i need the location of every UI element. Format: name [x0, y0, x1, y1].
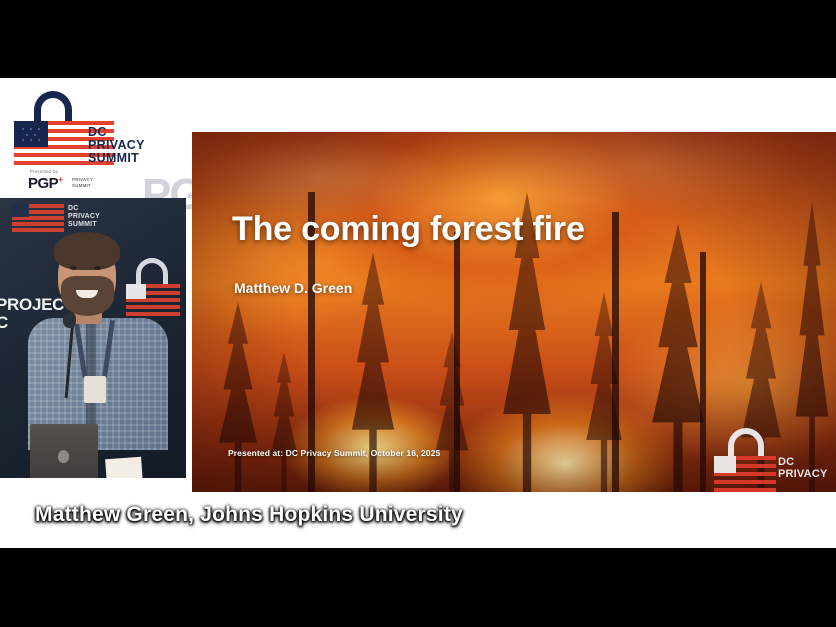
logo-wordmark-line3: SUMMIT [88, 152, 145, 165]
laptop-logo-icon [58, 450, 69, 463]
speaker-badge [84, 376, 106, 403]
flag-canton [14, 121, 48, 147]
speaker-laptop [30, 424, 98, 478]
watermark-line2: PRIVACY [778, 468, 827, 480]
video-stage: PGP DC PRIVACY SUMMIT Presented by PGP+ [0, 78, 836, 548]
padlock-shackle-icon [34, 91, 72, 125]
partner-mark: PRIVACY SUMMIT [72, 177, 93, 188]
logo-wordmark: DC PRIVACY SUMMIT [88, 126, 145, 165]
slide-title: The coming forest fire [232, 210, 585, 249]
sponsor-pgp-logo: PGP+ [28, 175, 62, 192]
speaker-camera-feed: DC PRIVACY SUMMIT PROJEC C [0, 198, 186, 478]
presentation-slide: The coming forest fire Matthew D. Green … [192, 132, 836, 492]
watermark-flag [714, 456, 776, 492]
logo-presented-by-label: Presented by [30, 169, 58, 174]
letterbox-bottom-bar [0, 548, 836, 627]
watermark-text: DC PRIVACY [778, 456, 827, 480]
sponsor-pgp-superscript: + [58, 175, 62, 184]
sponsor-pgp-text: PGP [28, 175, 58, 192]
backdrop-logo-line3: SUMMIT [68, 221, 100, 229]
caption-text: Matthew Green, Johns Hopkins University [35, 503, 463, 527]
dc-privacy-summit-logo: DC PRIVACY SUMMIT Presented by PGP+ PRIV… [14, 91, 164, 189]
watermark-padlock-shackle [728, 428, 764, 458]
microphone-icon [63, 312, 76, 328]
backdrop-logo-text: DC PRIVACY SUMMIT [68, 205, 100, 229]
slide-footnote: Presented at: DC Privacy Summit, October… [228, 448, 440, 458]
speaker-person [22, 234, 170, 449]
video-frame: PGP DC PRIVACY SUMMIT Presented by PGP+ [0, 0, 836, 627]
slide-author: Matthew D. Green [234, 280, 352, 296]
watermark-line1: DC [778, 456, 827, 468]
letterbox-top-bar [0, 0, 836, 78]
slide-watermark-logo: DC PRIVACY [708, 428, 828, 492]
backdrop-logo-line1: DC [68, 205, 100, 213]
partner-line1: PRIVACY [72, 177, 93, 183]
partner-line2: SUMMIT [72, 183, 93, 189]
backdrop-logo-line2: PRIVACY [68, 213, 100, 221]
lower-third-caption: Matthew Green, Johns Hopkins University [0, 493, 836, 548]
backdrop-flag-canton [12, 204, 29, 217]
